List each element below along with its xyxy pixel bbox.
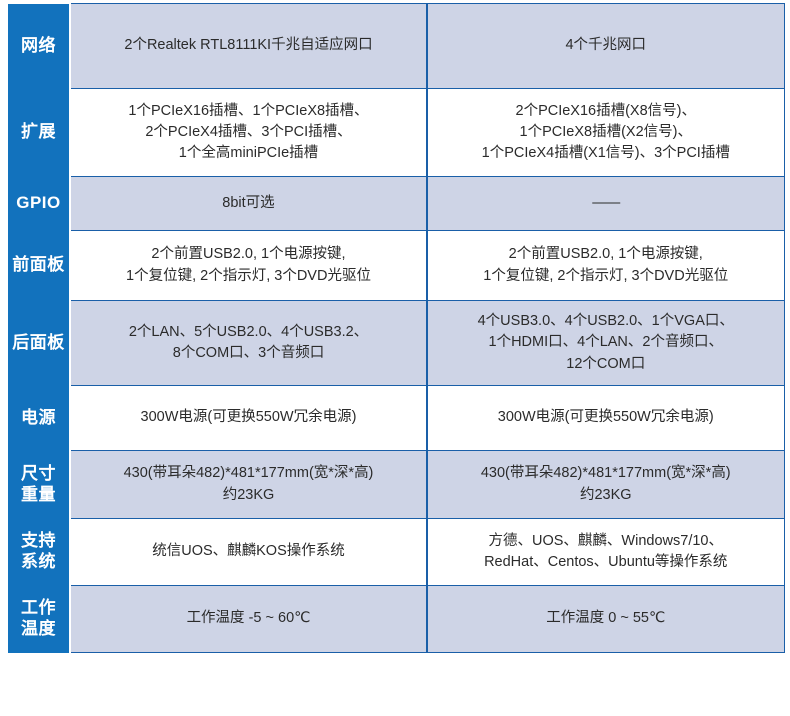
spec-value-line: RedHat、Centos、Ubuntu等操作系统	[436, 552, 776, 573]
spec-table-container: 网络2个Realtek RTL8111KI千兆自适应网口4个千兆网口扩展1个PC…	[8, 3, 784, 653]
spec-value-line: 约23KG	[79, 485, 418, 506]
spec-value-line: ——	[436, 193, 776, 214]
spec-value-cell-model-b: 4个USB3.0、4个USB2.0、1个VGA口、1个HDMI口、4个LAN、2…	[427, 301, 784, 386]
spec-value-line: 12个COM口	[436, 354, 776, 375]
spec-value-cell-model-b: 4个千兆网口	[427, 4, 784, 89]
row-label-cell: 后面板	[8, 301, 70, 386]
row-label-cell: 支持系统	[8, 519, 70, 586]
spec-value-cell-model-a: 8bit可选	[70, 177, 427, 231]
spec-value-line: 1个PCIeX4插槽(X1信号)、3个PCI插槽	[436, 143, 776, 164]
spec-value-cell-model-a: 2个LAN、5个USB2.0、4个USB3.2、8个COM口、3个音频口	[70, 301, 427, 386]
spec-value-line: 2个前置USB2.0, 1个电源按键,	[436, 244, 776, 265]
row-label-cell: 扩展	[8, 89, 70, 177]
row-label-line: 工作	[8, 598, 69, 619]
spec-value-cell-model-b: 300W电源(可更换550W冗余电源)	[427, 386, 784, 451]
row-label-line: 网络	[8, 36, 69, 57]
spec-value-line: 2个前置USB2.0, 1个电源按键,	[79, 244, 418, 265]
spec-value-line: 约23KG	[436, 485, 776, 506]
spec-value-line: 1个复位键, 2个指示灯, 3个DVD光驱位	[79, 266, 418, 287]
spec-value-line: 2个Realtek RTL8111KI千兆自适应网口	[79, 35, 418, 56]
spec-value-cell-model-a: 2个前置USB2.0, 1个电源按键,1个复位键, 2个指示灯, 3个DVD光驱…	[70, 231, 427, 301]
row-label-line: 系统	[8, 552, 69, 573]
table-row: 尺寸重量430(带耳朵482)*481*177mm(宽*深*高)约23KG430…	[8, 451, 784, 519]
table-row: 支持系统统信UOS、麒麟KOS操作系统方德、UOS、麒麟、Windows7/10…	[8, 519, 784, 586]
row-label-line: 支持	[8, 531, 69, 552]
spec-value-line: 工作温度 0 ~ 55℃	[436, 608, 776, 629]
spec-value-line: 8个COM口、3个音频口	[79, 343, 418, 364]
spec-value-cell-model-a: 工作温度 -5 ~ 60℃	[70, 586, 427, 653]
spec-value-line: 2个LAN、5个USB2.0、4个USB3.2、	[79, 322, 418, 343]
row-label-cell: 电源	[8, 386, 70, 451]
spec-value-line: 300W电源(可更换550W冗余电源)	[436, 407, 776, 428]
row-label-cell: 前面板	[8, 231, 70, 301]
spec-value-line: 430(带耳朵482)*481*177mm(宽*深*高)	[436, 463, 776, 484]
spec-value-line: 430(带耳朵482)*481*177mm(宽*深*高)	[79, 463, 418, 484]
row-label-line: 温度	[8, 619, 69, 640]
spec-value-cell-model-b: 工作温度 0 ~ 55℃	[427, 586, 784, 653]
table-row: GPIO8bit可选——	[8, 177, 784, 231]
spec-value-cell-model-b: 2个PCIeX16插槽(X8信号)、1个PCIeX8插槽(X2信号)、1个PCI…	[427, 89, 784, 177]
row-label-line: 尺寸	[8, 464, 69, 485]
table-row: 前面板2个前置USB2.0, 1个电源按键,1个复位键, 2个指示灯, 3个DV…	[8, 231, 784, 301]
row-label-line: 后面板	[8, 333, 69, 354]
spec-table-body: 网络2个Realtek RTL8111KI千兆自适应网口4个千兆网口扩展1个PC…	[8, 4, 784, 653]
row-label-line: 前面板	[8, 255, 69, 276]
row-label-cell: 尺寸重量	[8, 451, 70, 519]
table-row: 扩展1个PCIeX16插槽、1个PCIeX8插槽、2个PCIeX4插槽、3个PC…	[8, 89, 784, 177]
row-label-cell: GPIO	[8, 177, 70, 231]
row-label-cell: 工作温度	[8, 586, 70, 653]
spec-value-line: 300W电源(可更换550W冗余电源)	[79, 407, 418, 428]
spec-value-cell-model-a: 1个PCIeX16插槽、1个PCIeX8插槽、2个PCIeX4插槽、3个PCI插…	[70, 89, 427, 177]
spec-value-line: 2个PCIeX16插槽(X8信号)、	[436, 101, 776, 122]
spec-value-line: 4个千兆网口	[436, 35, 776, 56]
spec-value-line: 1个全高miniPCIe插槽	[79, 143, 418, 164]
spec-value-cell-model-a: 300W电源(可更换550W冗余电源)	[70, 386, 427, 451]
spec-value-line: 1个PCIeX8插槽(X2信号)、	[436, 122, 776, 143]
spec-value-line: 工作温度 -5 ~ 60℃	[79, 608, 418, 629]
table-row: 工作温度工作温度 -5 ~ 60℃工作温度 0 ~ 55℃	[8, 586, 784, 653]
spec-value-line: 1个HDMI口、4个LAN、2个音频口、	[436, 332, 776, 353]
row-label-cell: 网络	[8, 4, 70, 89]
specification-table: 网络2个Realtek RTL8111KI千兆自适应网口4个千兆网口扩展1个PC…	[8, 3, 785, 653]
table-row: 后面板2个LAN、5个USB2.0、4个USB3.2、8个COM口、3个音频口4…	[8, 301, 784, 386]
spec-value-cell-model-b: 2个前置USB2.0, 1个电源按键,1个复位键, 2个指示灯, 3个DVD光驱…	[427, 231, 784, 301]
spec-value-cell-model-a: 统信UOS、麒麟KOS操作系统	[70, 519, 427, 586]
spec-value-line: 8bit可选	[79, 193, 418, 214]
spec-value-line: 1个复位键, 2个指示灯, 3个DVD光驱位	[436, 266, 776, 287]
spec-value-cell-model-b: 430(带耳朵482)*481*177mm(宽*深*高)约23KG	[427, 451, 784, 519]
table-row: 网络2个Realtek RTL8111KI千兆自适应网口4个千兆网口	[8, 4, 784, 89]
spec-value-cell-model-a: 430(带耳朵482)*481*177mm(宽*深*高)约23KG	[70, 451, 427, 519]
row-label-line: 重量	[8, 485, 69, 506]
row-label-line: GPIO	[8, 193, 69, 214]
row-label-line: 扩展	[8, 122, 69, 143]
spec-value-line: 统信UOS、麒麟KOS操作系统	[79, 541, 418, 562]
spec-value-cell-model-b: ——	[427, 177, 784, 231]
spec-value-line: 2个PCIeX4插槽、3个PCI插槽、	[79, 122, 418, 143]
spec-value-cell-model-b: 方德、UOS、麒麟、Windows7/10、RedHat、Centos、Ubun…	[427, 519, 784, 586]
row-label-line: 电源	[8, 408, 69, 429]
spec-value-line: 4个USB3.0、4个USB2.0、1个VGA口、	[436, 311, 776, 332]
spec-value-cell-model-a: 2个Realtek RTL8111KI千兆自适应网口	[70, 4, 427, 89]
table-row: 电源300W电源(可更换550W冗余电源)300W电源(可更换550W冗余电源)	[8, 386, 784, 451]
spec-value-line: 1个PCIeX16插槽、1个PCIeX8插槽、	[79, 101, 418, 122]
spec-value-line: 方德、UOS、麒麟、Windows7/10、	[436, 531, 776, 552]
